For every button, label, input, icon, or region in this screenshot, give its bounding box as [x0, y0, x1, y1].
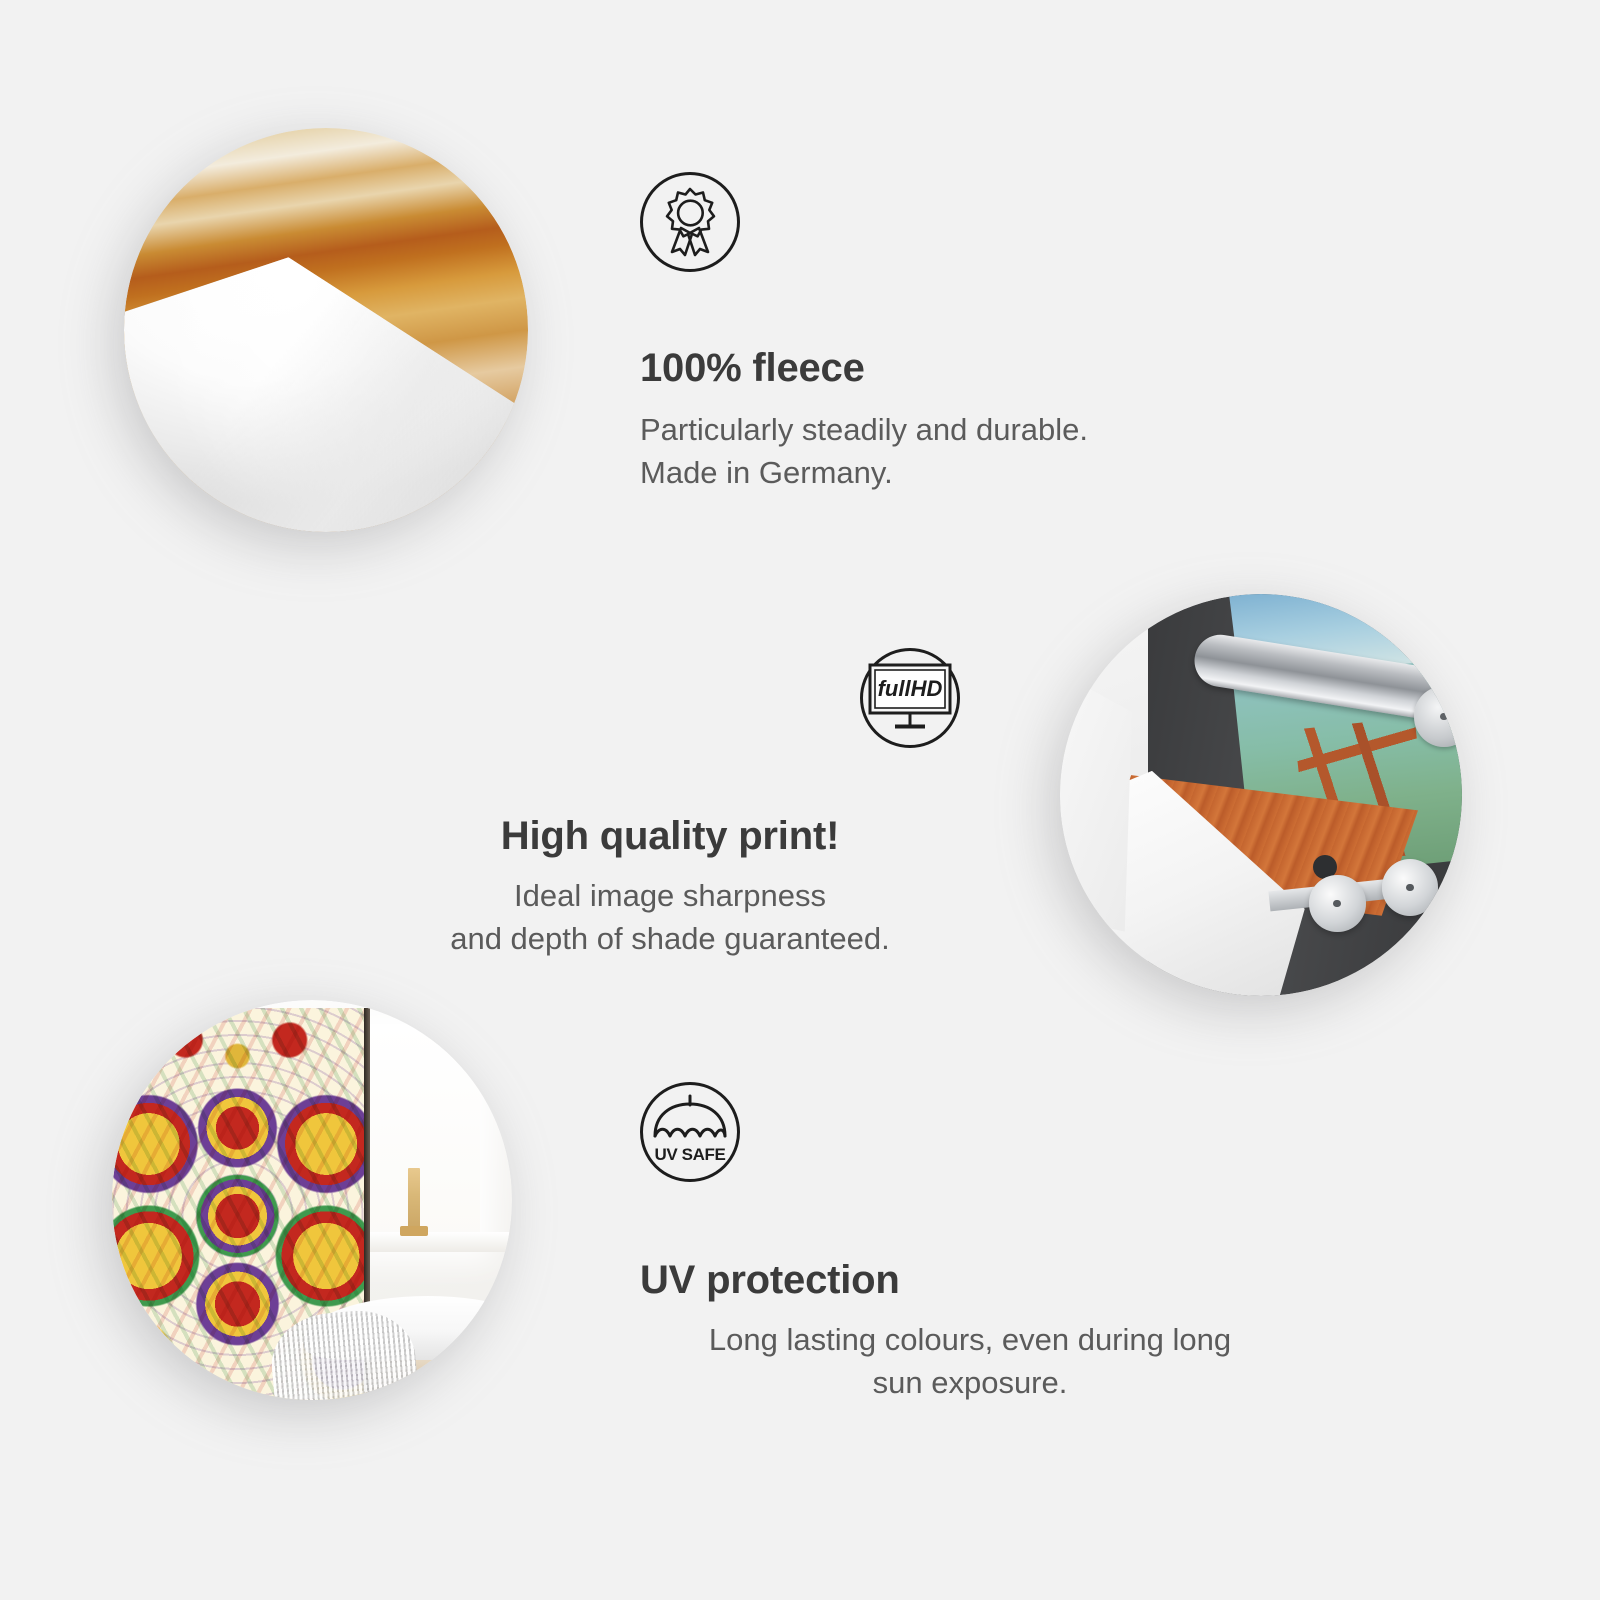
bright-window	[360, 1024, 480, 1248]
large-format-printer-photo	[1060, 594, 1462, 996]
feature-block-print: fullHD High quality print! Ideal image s…	[380, 648, 960, 961]
infographic-canvas: 100% fleece Particularly steadily and du…	[0, 0, 1600, 1600]
photo-clip	[124, 128, 528, 532]
photo-clip	[112, 1000, 512, 1400]
feature-body: Particularly steadily and durable. Made …	[640, 409, 1280, 495]
feature-block-fleece: 100% fleece Particularly steadily and du…	[640, 172, 1280, 495]
feature-title: 100% fleece	[640, 346, 1280, 391]
feature-title: High quality print!	[380, 814, 960, 859]
pressure-wheel-right	[1382, 859, 1438, 915]
photo-clip	[1060, 594, 1462, 996]
award-ribbon-icon	[640, 172, 740, 272]
uv-safe-umbrella-icon: UV SAFE	[640, 1082, 740, 1182]
uv-safe-icon-label: UV SAFE	[655, 1145, 726, 1164]
fullhd-monitor-icon: fullHD	[860, 648, 960, 748]
feature-block-uv: UV SAFE UV protection Long lasting colou…	[640, 1082, 1300, 1405]
peeling-fleece-wallpaper-photo	[124, 128, 528, 532]
feature-title: UV protection	[640, 1258, 1300, 1303]
pressure-wheel-left	[1309, 875, 1365, 931]
candlestick	[408, 1168, 420, 1236]
mandala-wallpaper-room-photo	[112, 1000, 512, 1400]
feature-body: Long lasting colours, even during long s…	[640, 1319, 1300, 1405]
badge-row: fullHD	[380, 648, 960, 814]
fullhd-icon-label: fullHD	[878, 676, 943, 701]
feature-body: Ideal image sharpness and depth of shade…	[380, 875, 960, 961]
